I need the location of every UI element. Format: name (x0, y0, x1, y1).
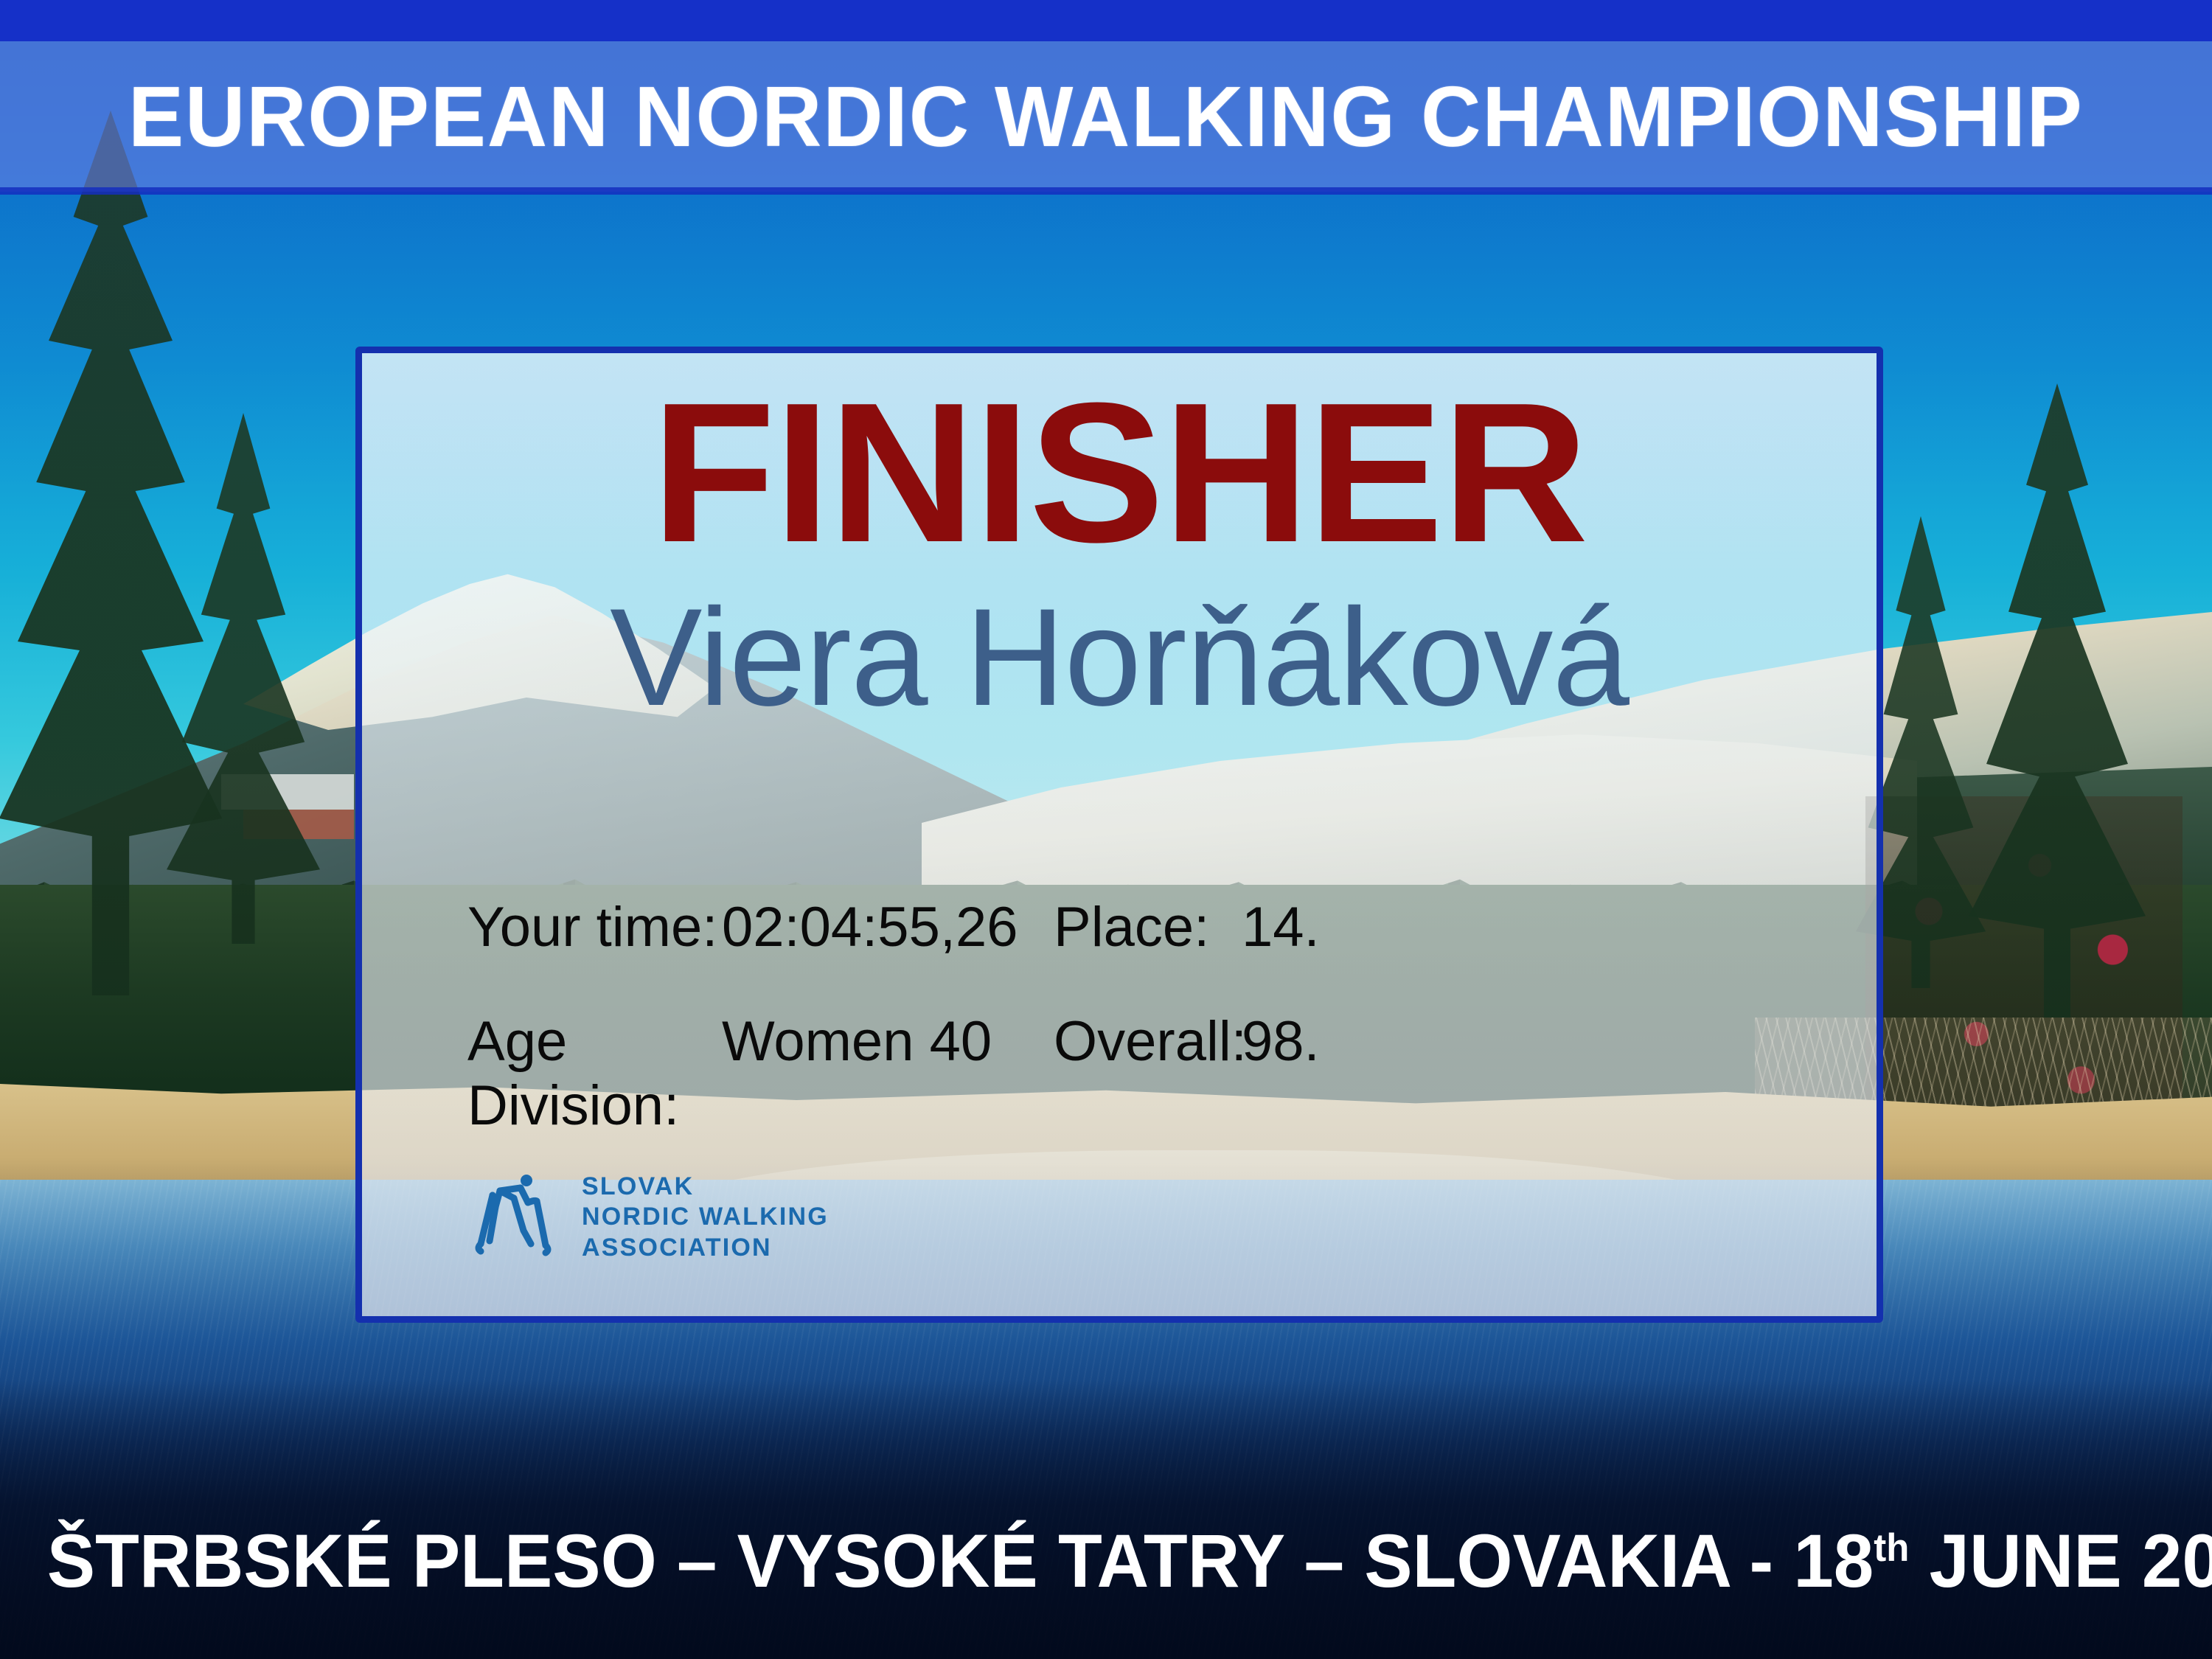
place-label: Place: (1054, 895, 1242, 959)
header-banner: EUROPEAN NORDIC WALKING CHAMPIONSHIP (0, 41, 2212, 192)
organizer-logo: SLOVAK NORDIC WALKING ASSOCIATION (473, 1172, 829, 1263)
logo-line-1: SLOVAK (582, 1172, 829, 1202)
page-title: EUROPEAN NORDIC WALKING CHAMPIONSHIP (128, 67, 2084, 166)
result-row-time: Your time: 02:04:55,26 Place: 14. (467, 895, 1780, 959)
age-division-label: Age Division: (467, 1009, 722, 1138)
event-location-pre: ŠTRBSKÉ PLESO – VYSOKÉ TATRY – SLOVAKIA … (47, 1519, 1874, 1603)
certificate-panel-inner: FINISHER Viera Horňáková Your time: 02:0… (362, 353, 1877, 1316)
footer: ŠTRBSKÉ PLESO – VYSOKÉ TATRY – SLOVAKIA … (0, 1518, 2212, 1604)
header-bottom-rule (0, 187, 2212, 195)
event-location-date: ŠTRBSKÉ PLESO – VYSOKÉ TATRY – SLOVAKIA … (47, 1518, 2212, 1604)
certificate-panel: FINISHER Viera Horňáková Your time: 02:0… (355, 347, 1883, 1323)
overall-value: 98. (1242, 1009, 1320, 1074)
your-time-label: Your time: (467, 895, 722, 959)
finisher-certificate: EUROPEAN NORDIC WALKING CHAMPIONSHIP FIN… (0, 0, 2212, 1659)
age-division-value: Women 40 (722, 1009, 1054, 1074)
overall-label: Overall: (1054, 1009, 1242, 1074)
result-details: Your time: 02:04:55,26 Place: 14. Age Di… (467, 895, 1780, 1188)
place-value: 14. (1242, 895, 1320, 959)
result-row-division: Age Division: Women 40 Overall: 98. (467, 1009, 1780, 1138)
athlete-name: Viera Horňáková (362, 588, 1877, 726)
nordic-walker-icon (473, 1173, 563, 1262)
event-date-post: JUNE 2016 (1909, 1519, 2212, 1603)
logo-line-3: ASSOCIATION (582, 1233, 829, 1263)
organizer-name: SLOVAK NORDIC WALKING ASSOCIATION (582, 1172, 829, 1263)
ordinal-suffix: th (1874, 1526, 1909, 1570)
header-top-strip (0, 0, 2212, 41)
your-time-value: 02:04:55,26 (722, 895, 1054, 959)
logo-line-2: NORDIC WALKING (582, 1202, 829, 1232)
status-title: FINISHER (355, 374, 1883, 573)
